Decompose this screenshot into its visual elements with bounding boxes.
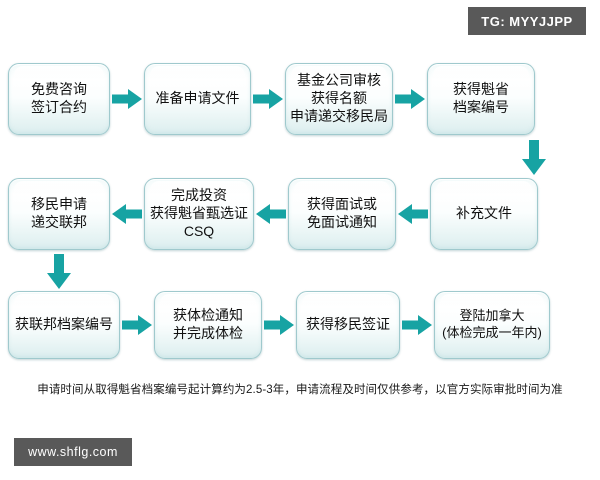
node-landing-canada[interactable]: 登陆加拿大 (体检完成一年内) bbox=[434, 291, 550, 359]
flowchart-canvas: TG: MYYJJPP 免费咨询 签订合约 准备申请文件 基金公司审核 获得名额… bbox=[0, 0, 600, 480]
node-interview-notice[interactable]: 获得面试或 免面试通知 bbox=[288, 178, 396, 250]
node-fund-review[interactable]: 基金公司审核 获得名额 申请递交移民局 bbox=[285, 63, 393, 135]
arrow-left-r2-2 bbox=[254, 201, 288, 227]
arrow-right-r1-1 bbox=[110, 86, 144, 112]
arrow-left-r2-1 bbox=[110, 201, 144, 227]
node-interview-notice-label: 获得面试或 免面试通知 bbox=[307, 196, 377, 232]
flow-row-3: 获联邦档案编号 获体检通知 并完成体检 获得移民签证 登陆加拿大 (体检完成一年… bbox=[0, 288, 600, 362]
arrow-down-left-connector bbox=[46, 254, 72, 290]
node-immigration-visa[interactable]: 获得移民签证 bbox=[296, 291, 400, 359]
node-free-consultation[interactable]: 免费咨询 签订合约 bbox=[8, 63, 110, 135]
arrow-left-r2-3 bbox=[396, 201, 430, 227]
node-prepare-documents[interactable]: 准备申请文件 bbox=[144, 63, 251, 135]
node-free-consultation-label: 免费咨询 签订合约 bbox=[31, 81, 87, 117]
node-investment-csq[interactable]: 完成投资 获得魁省甄选证 CSQ bbox=[144, 178, 254, 250]
arrow-right-r3-2 bbox=[262, 312, 296, 338]
arrow-right-r3-1 bbox=[120, 312, 154, 338]
node-supplement-documents-label: 补充文件 bbox=[456, 205, 512, 223]
node-landing-canada-label: 登陆加拿大 (体检完成一年内) bbox=[442, 308, 542, 341]
arrow-right-r1-2 bbox=[251, 86, 285, 112]
node-federal-submission-label: 移民申请 递交联邦 bbox=[31, 196, 87, 232]
node-quebec-file-number-label: 获得魁省 档案编号 bbox=[453, 81, 509, 117]
node-supplement-documents[interactable]: 补充文件 bbox=[430, 178, 538, 250]
flow-row-1: 免费咨询 签订合约 准备申请文件 基金公司审核 获得名额 申请递交移民局 获得魁… bbox=[0, 60, 600, 138]
node-medical-exam[interactable]: 获体检通知 并完成体检 bbox=[154, 291, 262, 359]
node-federal-file-number[interactable]: 获联邦档案编号 bbox=[8, 291, 120, 359]
arrow-right-r1-3 bbox=[393, 86, 427, 112]
node-fund-review-label: 基金公司审核 获得名额 申请递交移民局 bbox=[290, 72, 388, 126]
arrow-right-r3-3 bbox=[400, 312, 434, 338]
node-federal-submission[interactable]: 移民申请 递交联邦 bbox=[8, 178, 110, 250]
node-quebec-file-number[interactable]: 获得魁省 档案编号 bbox=[427, 63, 535, 135]
node-investment-csq-label: 完成投资 获得魁省甄选证 CSQ bbox=[150, 187, 248, 241]
arrow-down-right-connector bbox=[521, 140, 547, 176]
node-federal-file-number-label: 获联邦档案编号 bbox=[15, 316, 113, 334]
node-medical-exam-label: 获体检通知 并完成体检 bbox=[173, 307, 243, 343]
telegram-watermark-badge: TG: MYYJJPP bbox=[468, 7, 586, 35]
node-prepare-documents-label: 准备申请文件 bbox=[156, 90, 240, 108]
flow-row-2: 移民申请 递交联邦 完成投资 获得魁省甄选证 CSQ 获得面试或 免面试通知 补… bbox=[0, 175, 600, 253]
footnote-text: 申请时间从取得魁省档案编号起计算约为2.5-3年，申请流程及时间仅供参考，以官方… bbox=[0, 381, 600, 397]
site-watermark-badge: www.shflg.com bbox=[14, 438, 132, 466]
node-immigration-visa-label: 获得移民签证 bbox=[306, 316, 390, 334]
